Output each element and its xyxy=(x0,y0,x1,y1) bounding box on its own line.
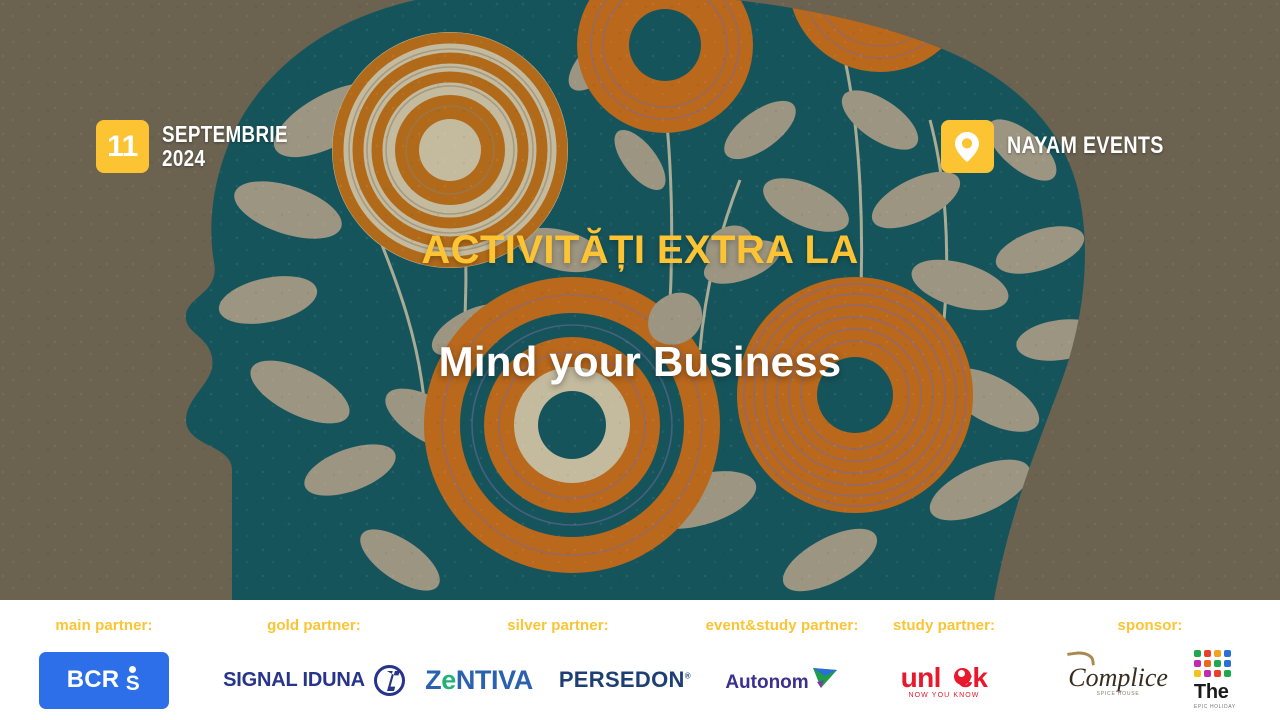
sponsor-group-sponsor: sponsor: Complice SPICE HOUSE The EPIC H… xyxy=(1020,600,1280,720)
logo-persedon[interactable]: PERSEDON® xyxy=(559,667,691,693)
logo-autonom[interactable]: Autonom xyxy=(725,666,838,694)
date-year: 2024 xyxy=(162,147,288,170)
logo-zentiva-e: e xyxy=(441,665,456,695)
sponsor-caption-event-study: event&study partner: xyxy=(706,617,859,634)
date-text: SEPTEMBRIE 2024 xyxy=(162,123,288,170)
sponsor-group-silver-partner: silver partner: ZeNTIVA PERSEDON® xyxy=(420,600,696,720)
logo-signal-iduna-text: SIGNAL IDUNA xyxy=(223,669,365,692)
logo-the-text: The xyxy=(1194,681,1229,704)
logo-bcr-text: BCR xyxy=(67,666,120,694)
logo-bcr[interactable]: BCR S xyxy=(39,652,169,709)
location-pin-icon xyxy=(954,131,980,163)
logo-complice[interactable]: Complice SPICE HOUSE xyxy=(1064,663,1168,697)
date-day: 11 xyxy=(107,132,138,162)
logo-the-tagline: EPIC HOLIDAY xyxy=(1194,704,1236,710)
sponsor-bar: main partner: BCR S gold partner: SIGNAL… xyxy=(0,600,1280,720)
logo-row-event-study: Autonom xyxy=(725,640,838,720)
logo-row-main: BCR S xyxy=(39,640,169,720)
logo-signal-iduna[interactable]: SIGNAL IDUNA xyxy=(223,665,405,696)
sponsor-caption-sponsor: sponsor: xyxy=(1118,617,1183,634)
venue-badge: NAYAM EVENTS xyxy=(941,120,1198,173)
logo-unlock[interactable]: unlock NOW YOU KNOW xyxy=(901,662,988,699)
sponsor-group-study-partner: study partner: unlock NOW YOU KNOW xyxy=(868,600,1020,720)
logo-unlock-part1: unl xyxy=(901,662,941,693)
unlock-drop-icon xyxy=(954,668,971,685)
logo-autonom-text: Autonom xyxy=(725,672,808,694)
logo-the[interactable]: The EPIC HOLIDAY xyxy=(1194,650,1236,710)
logo-persedon-text: PERSEDON xyxy=(559,667,685,692)
sponsor-group-gold-partner: gold partner: SIGNAL IDUNA xyxy=(208,600,420,720)
poster-canvas: 11 SEPTEMBRIE 2024 NAYAM EVENTS ACTIVITĂ… xyxy=(0,0,1280,720)
venue-label: NAYAM EVENTS xyxy=(1007,134,1164,158)
signal-iduna-monogram-icon xyxy=(374,665,405,696)
bcr-mark-text: S xyxy=(124,674,141,694)
date-chip: 11 xyxy=(96,120,149,173)
sponsor-caption-main: main partner: xyxy=(55,617,152,634)
logo-complice-text: Complice xyxy=(1068,663,1168,692)
logo-zentiva-z: Z xyxy=(425,665,441,695)
logo-row-study: unlock NOW YOU KNOW xyxy=(901,640,988,720)
venue-chip xyxy=(941,120,994,173)
date-month: SEPTEMBRIE xyxy=(162,121,288,147)
logo-row-silver: ZeNTIVA PERSEDON® xyxy=(425,640,691,720)
logo-unlock-text: unlock xyxy=(901,662,988,694)
the-dot-grid-icon xyxy=(1194,650,1231,677)
logo-persedon-registered: ® xyxy=(685,672,691,681)
bcr-savings-icon: S xyxy=(124,666,141,694)
date-badge: 11 SEPTEMBRIE 2024 xyxy=(96,120,316,173)
sponsor-caption-study: study partner: xyxy=(893,617,995,634)
sponsor-group-event-study-partner: event&study partner: Autonom xyxy=(696,600,868,720)
logo-row-gold: SIGNAL IDUNA xyxy=(223,640,405,720)
logo-zentiva[interactable]: ZeNTIVA xyxy=(425,665,533,696)
sponsor-caption-silver: silver partner: xyxy=(507,617,609,634)
sponsor-group-main-partner: main partner: BCR S xyxy=(0,600,208,720)
artwork-illustration xyxy=(0,0,1280,600)
logo-zentiva-rest: NTIVA xyxy=(456,665,533,695)
logo-row-sponsor: Complice SPICE HOUSE The EPIC HOLIDAY xyxy=(1064,640,1236,720)
poster-artwork xyxy=(0,0,1280,600)
autonom-arrow-icon xyxy=(811,666,839,690)
sponsor-caption-gold: gold partner: xyxy=(267,617,361,634)
